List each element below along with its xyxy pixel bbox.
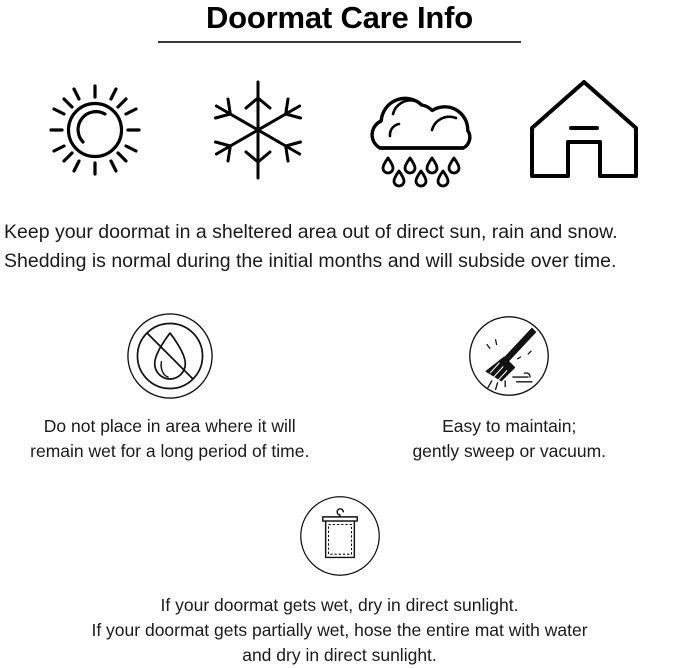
- page-title: Doormat Care Info: [0, 0, 679, 35]
- care-caption-line-2: gently sweep or vacuum.: [412, 439, 606, 464]
- care-caption-line-2: remain wet for a long period of time.: [30, 439, 309, 464]
- intro-line-1: Keep your doormat in a sheltered area ou…: [4, 218, 679, 247]
- weather-icon-cell: [509, 70, 659, 190]
- hang-dry-caption-line-2: If your doormat gets partially wet, hose…: [91, 618, 587, 643]
- broom-icon: [465, 312, 553, 400]
- no-water-icon: [126, 312, 214, 400]
- care-item-sweep: Easy to maintain; gently sweep or vacuum…: [340, 312, 679, 464]
- title-divider: [158, 41, 521, 43]
- hang-dry-caption: If your doormat gets wet, dry in direct …: [91, 593, 587, 668]
- care-caption-line-1: Do not place in area where it will: [30, 414, 309, 439]
- intro-paragraph: Keep your doormat in a sheltered area ou…: [4, 218, 679, 276]
- weather-icon-cell: [346, 70, 496, 190]
- snowflake-icon: [206, 76, 310, 184]
- weather-icon-cell: [183, 70, 333, 190]
- care-items-row: Do not place in area where it will remai…: [0, 312, 679, 464]
- house-icon: [526, 76, 642, 184]
- care-caption-line-1: Easy to maintain;: [412, 414, 606, 439]
- title-block: Doormat Care Info: [0, 0, 679, 43]
- rain-cloud-icon: [358, 74, 484, 186]
- weather-icon-row: [0, 70, 679, 190]
- hang-dry-caption-line-3: and dry in direct sunlight.: [91, 643, 587, 668]
- care-item-caption: Do not place in area where it will remai…: [30, 414, 309, 464]
- sun-icon: [43, 78, 147, 182]
- care-item-no-water: Do not place in area where it will remai…: [0, 312, 340, 464]
- doormat-care-info-page: Doormat Care Info: [0, 0, 679, 655]
- hang-dry-icon: [296, 492, 384, 580]
- care-item-hang-dry: If your doormat gets wet, dry in direct …: [0, 492, 679, 668]
- care-item-caption: Easy to maintain; gently sweep or vacuum…: [412, 414, 606, 464]
- intro-line-2: Shedding is normal during the initial mo…: [4, 247, 679, 276]
- weather-icon-cell: [20, 70, 170, 190]
- hang-dry-caption-line-1: If your doormat gets wet, dry in direct …: [91, 593, 587, 618]
